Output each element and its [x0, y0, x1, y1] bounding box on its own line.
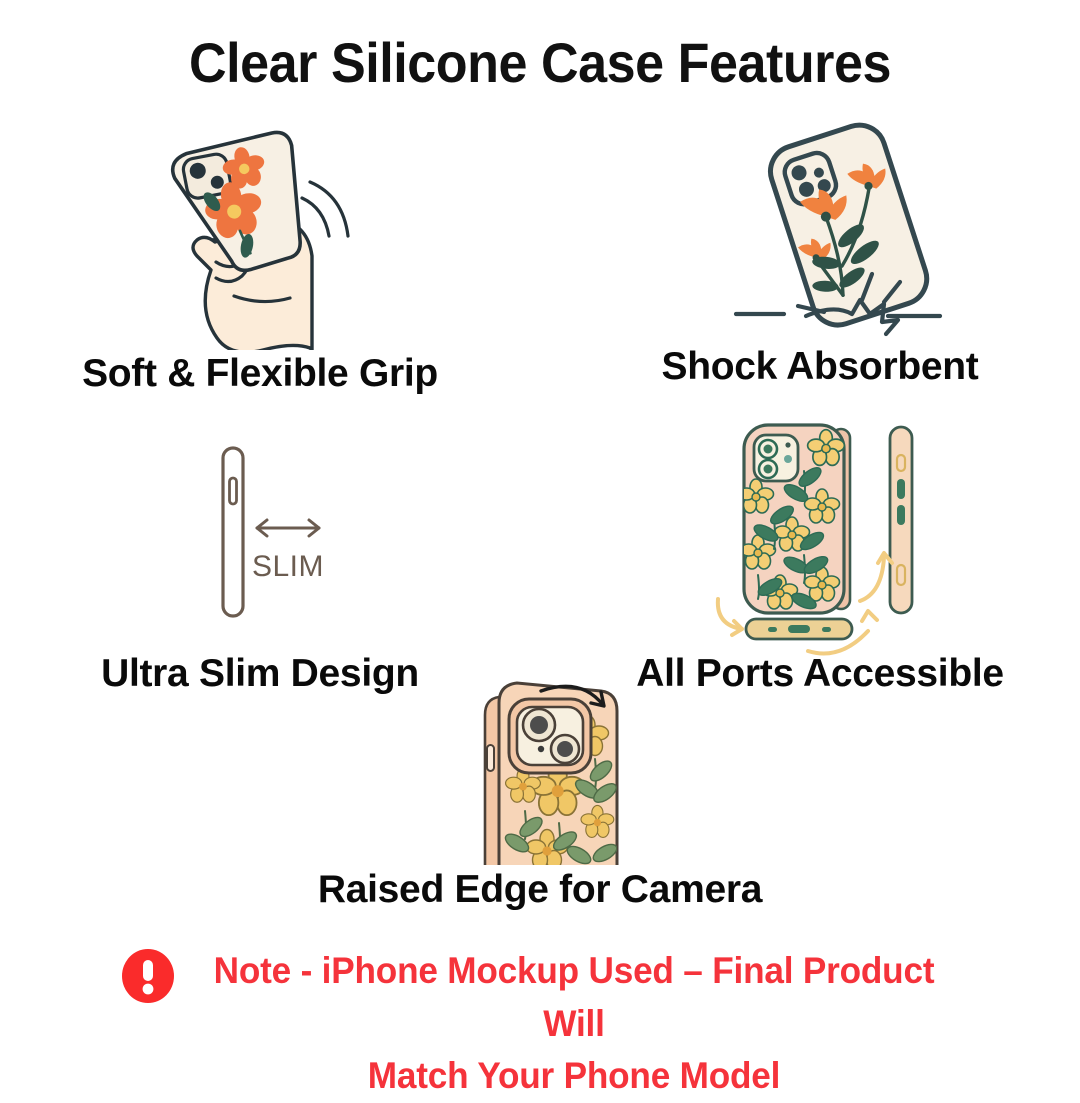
note-text: Note - iPhone Mockup Used – Final Produc…	[208, 945, 940, 1103]
feature-label-raised-edge-camera: Raised Edge for Camera	[200, 868, 880, 912]
ultra-slim-design-illustration: SLIM	[185, 430, 385, 630]
infographic-page: Clear Silicone Case Features	[0, 0, 1080, 1080]
feature-label-soft-flexible-grip: Soft & Flexible Grip	[10, 352, 510, 396]
note-line-1: Note - iPhone Mockup Used – Final Produc…	[214, 950, 935, 1044]
shock-absorbent-illustration	[730, 120, 970, 345]
note-banner: Note - iPhone Mockup Used – Final Produc…	[0, 945, 1080, 1103]
phone-case-impact-burst-icon	[730, 120, 970, 345]
exclamation-circle-icon	[121, 948, 175, 1009]
feature-label-shock-absorbent: Shock Absorbent	[570, 345, 1070, 389]
slim-measure-label: SLIM	[252, 550, 324, 583]
hand-holding-flexible-case-icon	[120, 120, 380, 350]
page-title: Clear Silicone Case Features	[38, 30, 1042, 95]
phone-side-profile-slim-arrow-icon: SLIM	[185, 430, 385, 630]
feature-label-ultra-slim-design: Ultra Slim Design	[10, 652, 510, 696]
note-line-2: Match Your Phone Model	[208, 1050, 940, 1103]
raised-edge-camera-illustration	[455, 665, 675, 865]
all-ports-accessible-illustration	[700, 415, 950, 660]
phone-case-ports-cutouts-icon	[700, 415, 950, 660]
phone-case-raised-camera-edge-icon	[455, 665, 675, 865]
soft-flexible-grip-illustration	[120, 120, 380, 350]
